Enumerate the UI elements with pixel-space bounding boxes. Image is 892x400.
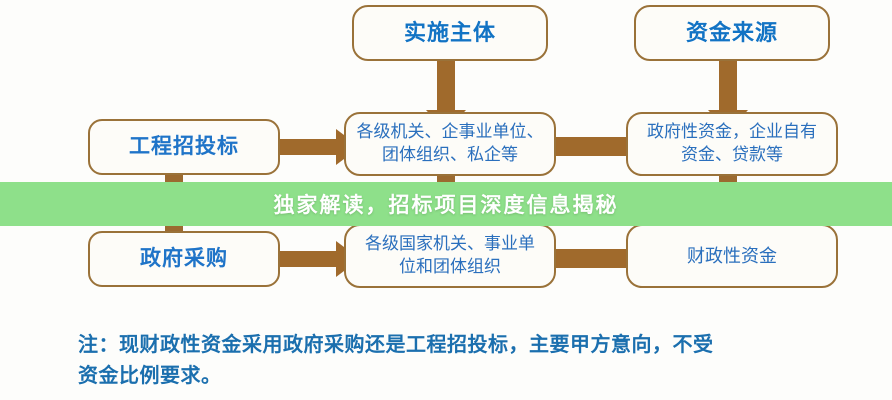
promo-banner: 独家解读，招标项目深度信息揭秘 bbox=[0, 182, 892, 226]
diagram-canvas: 实施主体 资金来源 工程招投标 各级机关、企事业单位、 团体组织、私企等 政府性… bbox=[0, 0, 892, 400]
box-government-procurement[interactable]: 政府采购 bbox=[88, 231, 280, 287]
box-implementation-entity-label: 实施主体 bbox=[404, 20, 496, 47]
box-government-procurement-funding-text: 财政性资金 bbox=[681, 244, 783, 268]
box-engineering-bidding-entity-text: 各级机关、企事业单位、 团体组织、私企等 bbox=[351, 121, 550, 167]
box-engineering-bidding-funding-text: 政府性资金，企业自有 资金、贷款等 bbox=[641, 121, 823, 167]
box-engineering-bidding-funding[interactable]: 政府性资金，企业自有 资金、贷款等 bbox=[626, 112, 838, 176]
box-government-procurement-label: 政府采购 bbox=[140, 246, 228, 272]
arrow-shaft bbox=[719, 60, 737, 114]
box-implementation-entity[interactable]: 实施主体 bbox=[352, 5, 548, 61]
arrow-shaft bbox=[278, 251, 340, 267]
box-government-procurement-funding[interactable]: 财政性资金 bbox=[626, 224, 838, 288]
arrow-shaft bbox=[437, 60, 455, 114]
promo-banner-text: 独家解读，招标项目深度信息揭秘 bbox=[274, 189, 619, 219]
arrow-shaft bbox=[278, 139, 340, 155]
box-engineering-bidding-label: 工程招投标 bbox=[129, 134, 239, 160]
box-funding-source[interactable]: 资金来源 bbox=[634, 5, 830, 61]
footer-note: 注：现财政性资金采用政府采购还是工程招投标，主要甲方意向，不受 资金比例要求。 bbox=[78, 330, 868, 392]
connector-entity-to-funding-row2 bbox=[548, 249, 632, 268]
box-engineering-bidding-entity[interactable]: 各级机关、企事业单位、 团体组织、私企等 bbox=[344, 112, 556, 176]
connector-entity-to-funding-row1 bbox=[548, 137, 632, 156]
box-engineering-bidding[interactable]: 工程招投标 bbox=[88, 119, 280, 175]
box-government-procurement-entity-text: 各级国家机关、事业单 位和团体组织 bbox=[359, 233, 541, 279]
box-funding-source-label: 资金来源 bbox=[686, 20, 778, 47]
box-government-procurement-entity[interactable]: 各级国家机关、事业单 位和团体组织 bbox=[344, 224, 556, 288]
